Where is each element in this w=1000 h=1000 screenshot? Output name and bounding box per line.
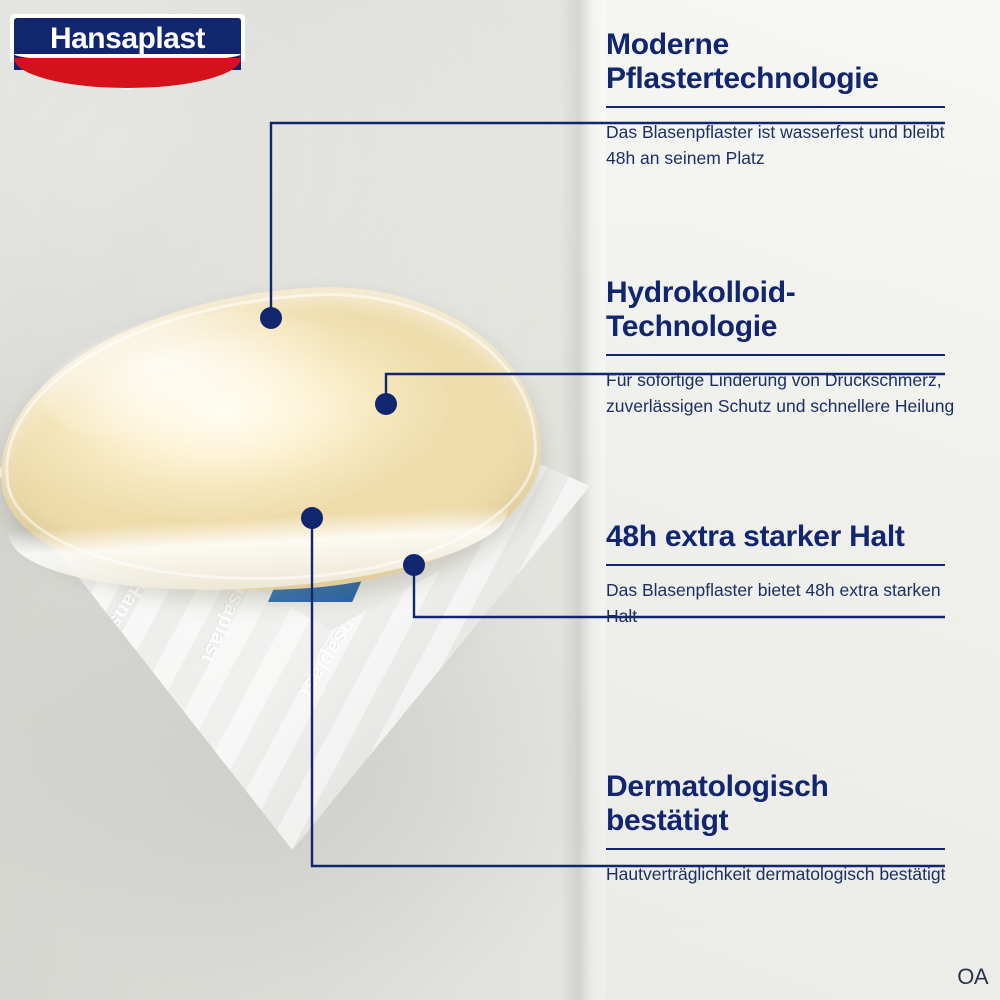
feature-heading-3: 48h extra starker Halt: [606, 520, 956, 554]
feature-block-3: 48h extra starker Halt Das Blasenpflaste…: [606, 520, 956, 629]
feature-divider-1: [606, 106, 945, 108]
feature-block-4: Dermatologisch bestätigt Hautverträglich…: [606, 770, 956, 888]
logo-wordmark: Hansaplast: [10, 22, 245, 56]
logo-red-swoosh: [14, 58, 241, 88]
feature-divider-4: [606, 848, 945, 850]
feature-divider-3: [606, 564, 945, 566]
feature-heading-1: Moderne Pflastertechnologie: [606, 28, 956, 96]
corner-watermark: OA: [957, 964, 988, 990]
feature-block-2: Hydrokolloid-Technologie Für sofortige L…: [606, 276, 956, 419]
feature-heading-2: Hydrokolloid-Technologie: [606, 276, 956, 344]
hansaplast-logo: Hansaplast: [10, 14, 245, 90]
feature-block-1: Moderne Pflastertechnologie Das Blasenpf…: [606, 28, 956, 171]
feature-body-3: Das Blasenpflaster bietet 48h extra star…: [606, 578, 956, 629]
feature-body-4: Hautverträglichkeit dermatologisch bestä…: [606, 862, 956, 887]
feature-heading-4: Dermatologisch bestätigt: [606, 770, 956, 838]
feature-divider-2: [606, 354, 945, 356]
feature-body-2: Für sofortige Linderung von Druckschmerz…: [606, 368, 956, 419]
infographic-canvas: HansaplastHansaplastHansaplastHansaplast…: [0, 0, 1000, 1000]
feature-body-1: Das Blasenpflaster ist wasserfest und bl…: [606, 120, 956, 171]
hydrocolloid-plaster: [0, 290, 540, 590]
